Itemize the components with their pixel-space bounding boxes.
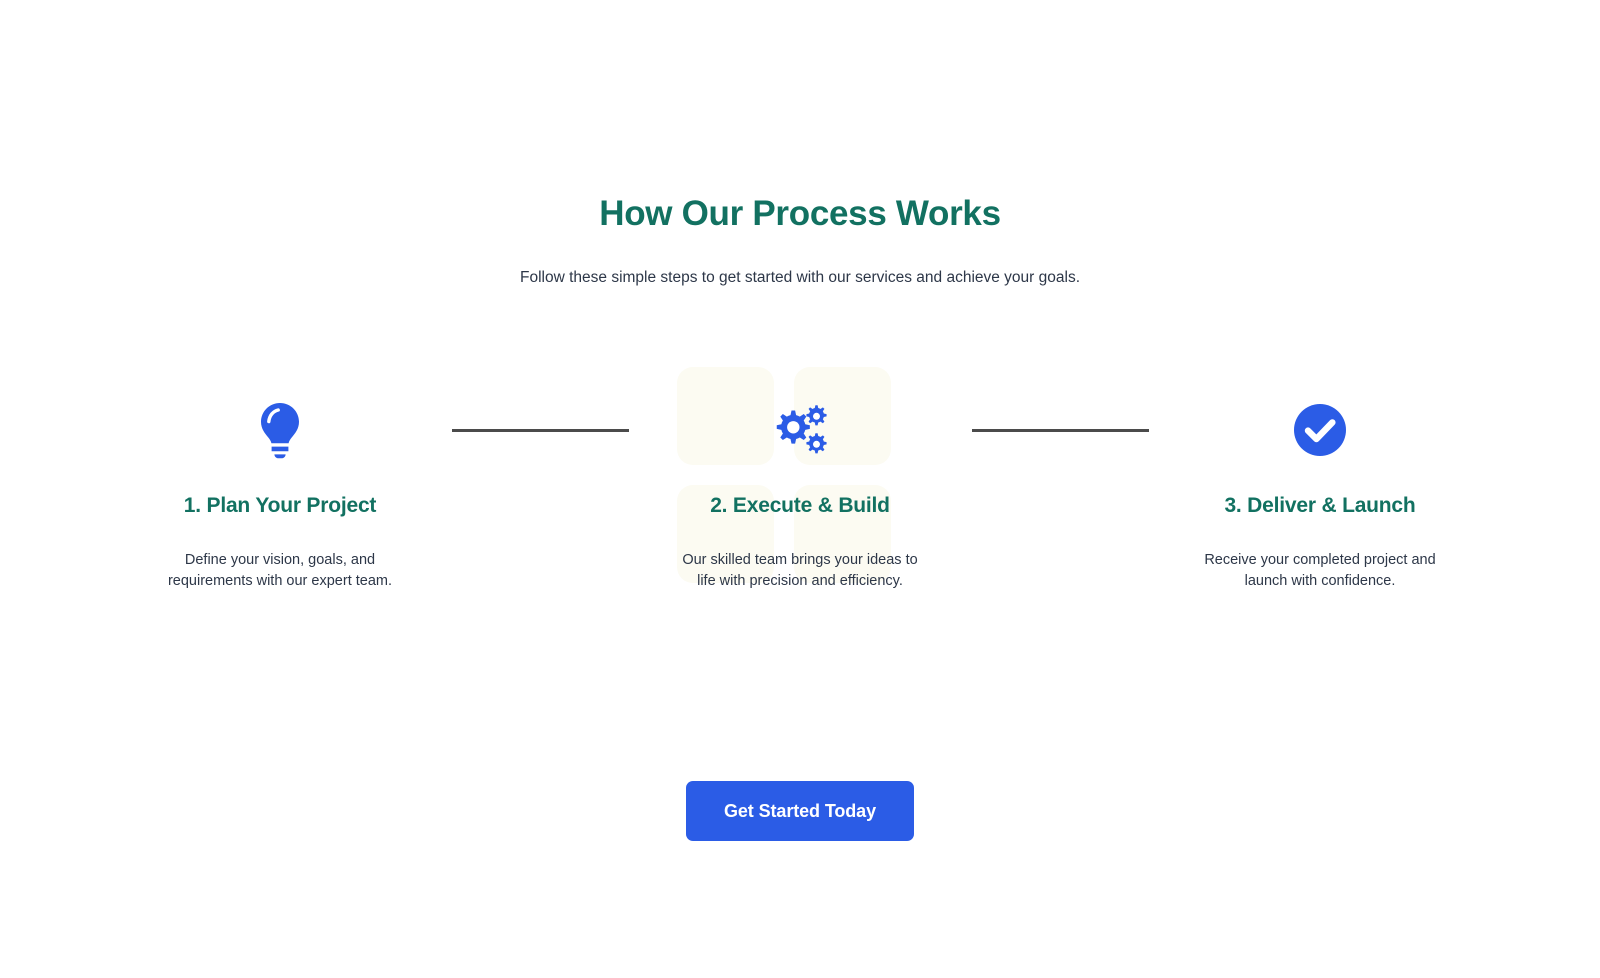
get-started-button[interactable]: Get Started Today xyxy=(686,781,914,841)
lightbulb-icon xyxy=(257,401,303,459)
steps-row: 1. Plan Your Project Define your vision,… xyxy=(0,395,1600,592)
step-card-2: 2. Execute & Build Our skilled team brin… xyxy=(670,395,930,592)
step-1-description: Define your vision, goals, and requireme… xyxy=(150,550,410,592)
step-1-icon-wrap xyxy=(150,395,410,465)
step-card-1: 1. Plan Your Project Define your vision,… xyxy=(150,395,410,592)
step-card-3: 3. Deliver & Launch Receive your complet… xyxy=(1190,395,1450,592)
step-2-description: Our skilled team brings your ideas to li… xyxy=(670,550,930,592)
section-header: How Our Process Works Follow these simpl… xyxy=(0,192,1600,289)
connector-line-1 xyxy=(452,429,629,432)
step-3-title: 3. Deliver & Launch xyxy=(1190,494,1450,518)
process-section: How Our Process Works Follow these simpl… xyxy=(0,0,1600,978)
connector-2 xyxy=(930,395,1190,465)
page-title: How Our Process Works xyxy=(0,192,1600,236)
step-3-icon-wrap xyxy=(1190,395,1450,465)
step-1-title: 1. Plan Your Project xyxy=(150,494,410,518)
connector-line-2 xyxy=(972,429,1149,432)
step-2-title: 2. Execute & Build xyxy=(670,494,930,518)
connector-1 xyxy=(410,395,670,465)
check-circle-icon xyxy=(1292,402,1348,458)
step-2-icon-wrap xyxy=(670,395,930,465)
section-subtitle: Follow these simple steps to get started… xyxy=(0,266,1600,289)
gears-icon xyxy=(768,402,832,458)
cta-container: Get Started Today xyxy=(0,781,1600,841)
step-3-description: Receive your completed project and launc… xyxy=(1190,550,1450,592)
